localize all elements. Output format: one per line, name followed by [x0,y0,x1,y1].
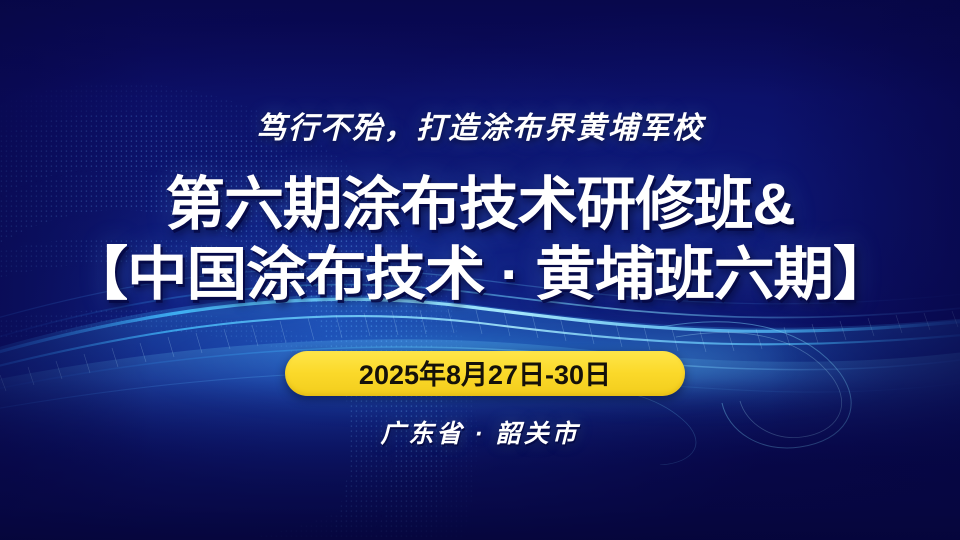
event-banner: 笃行不殆，打造涂布界黄埔军校 第六期涂布技术研修班& 【中国涂布技术 · 黄埔班… [0,0,960,540]
banner-title-line-1: 第六期涂布技术研修班& [0,176,960,234]
event-date-badge: 2025年8月27日-30日 [285,351,685,396]
banner-title-line-2: 【中国涂布技术 · 黄埔班六期】 [0,246,960,304]
banner-tagline: 笃行不殆，打造涂布界黄埔军校 [0,103,960,147]
banner-title-block: 第六期涂布技术研修班& 【中国涂布技术 · 黄埔班六期】 [0,176,960,304]
event-location: 广东省 · 韶关市 [0,414,960,450]
event-date-text: 2025年8月27日-30日 [359,353,611,392]
banner-content: 笃行不殆，打造涂布界黄埔军校 第六期涂布技术研修班& 【中国涂布技术 · 黄埔班… [0,0,960,540]
